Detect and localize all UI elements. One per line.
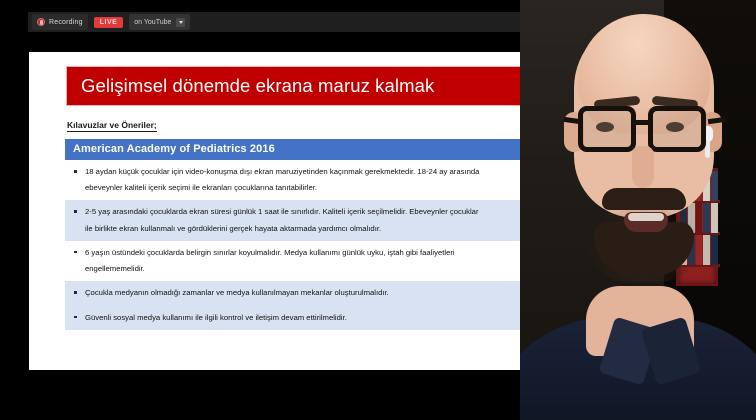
recommendations-table: American Academy of Pediatrics 2016 18 a… <box>65 139 557 330</box>
presenter-video-tile[interactable] <box>520 0 756 420</box>
recording-label: Recording <box>49 19 83 26</box>
table-row: Güvenli sosyal medya kullanımı ile ilgil… <box>65 306 557 330</box>
row-line: ile birlikte ekran kullanmalı ve gördükl… <box>85 222 543 235</box>
slide-title: Gelişimsel dönemde ekrana maruz kalmak <box>81 75 434 97</box>
row-line: Güvenli sosyal medya kullanımı ile ilgil… <box>85 311 543 324</box>
chevron-down-icon[interactable] <box>176 18 185 27</box>
table-header: American Academy of Pediatrics 2016 <box>65 139 557 160</box>
row-line: 2-5 yaş arasındaki çocuklarda ekran süre… <box>85 205 543 218</box>
row-line: 6 yaşın üstündeki çocuklarda belirgin sı… <box>85 246 543 259</box>
teeth <box>628 213 664 221</box>
table-row: 2-5 yaş arasındaki çocuklarda ekran süre… <box>65 200 557 240</box>
table-row: 6 yaşın üstündeki çocuklarda belirgin sı… <box>65 241 557 281</box>
nose <box>632 146 654 188</box>
live-badge: LIVE <box>94 17 124 28</box>
recording-indicator[interactable]: Recording <box>32 14 88 30</box>
row-line: 18 aydan küçük çocuklar için video-konuş… <box>85 165 543 178</box>
row-line: Çocukla medyanın olmadığı zamanlar ve me… <box>85 286 543 299</box>
guidelines-heading: Kılavuzlar ve Öneriler; <box>67 120 157 132</box>
stream-platform-selector[interactable]: on YouTube <box>129 14 190 30</box>
meeting-screen: Recording LIVE on YouTube Gelişimsel dön… <box>0 0 756 420</box>
table-row: Çocukla medyanın olmadığı zamanlar ve me… <box>65 281 557 305</box>
stream-platform-label: on YouTube <box>134 19 171 26</box>
slide-title-banner: Gelişimsel dönemde ekrana maruz kalmak <box>67 67 555 105</box>
moustache <box>602 188 686 210</box>
row-line: engellememelidir. <box>85 262 543 275</box>
row-line: ebeveynler kaliteli içerik seçimi ile ek… <box>85 181 543 194</box>
table-row: 18 aydan küçük çocuklar için video-konuş… <box>65 160 557 200</box>
record-dot-icon <box>37 18 45 26</box>
